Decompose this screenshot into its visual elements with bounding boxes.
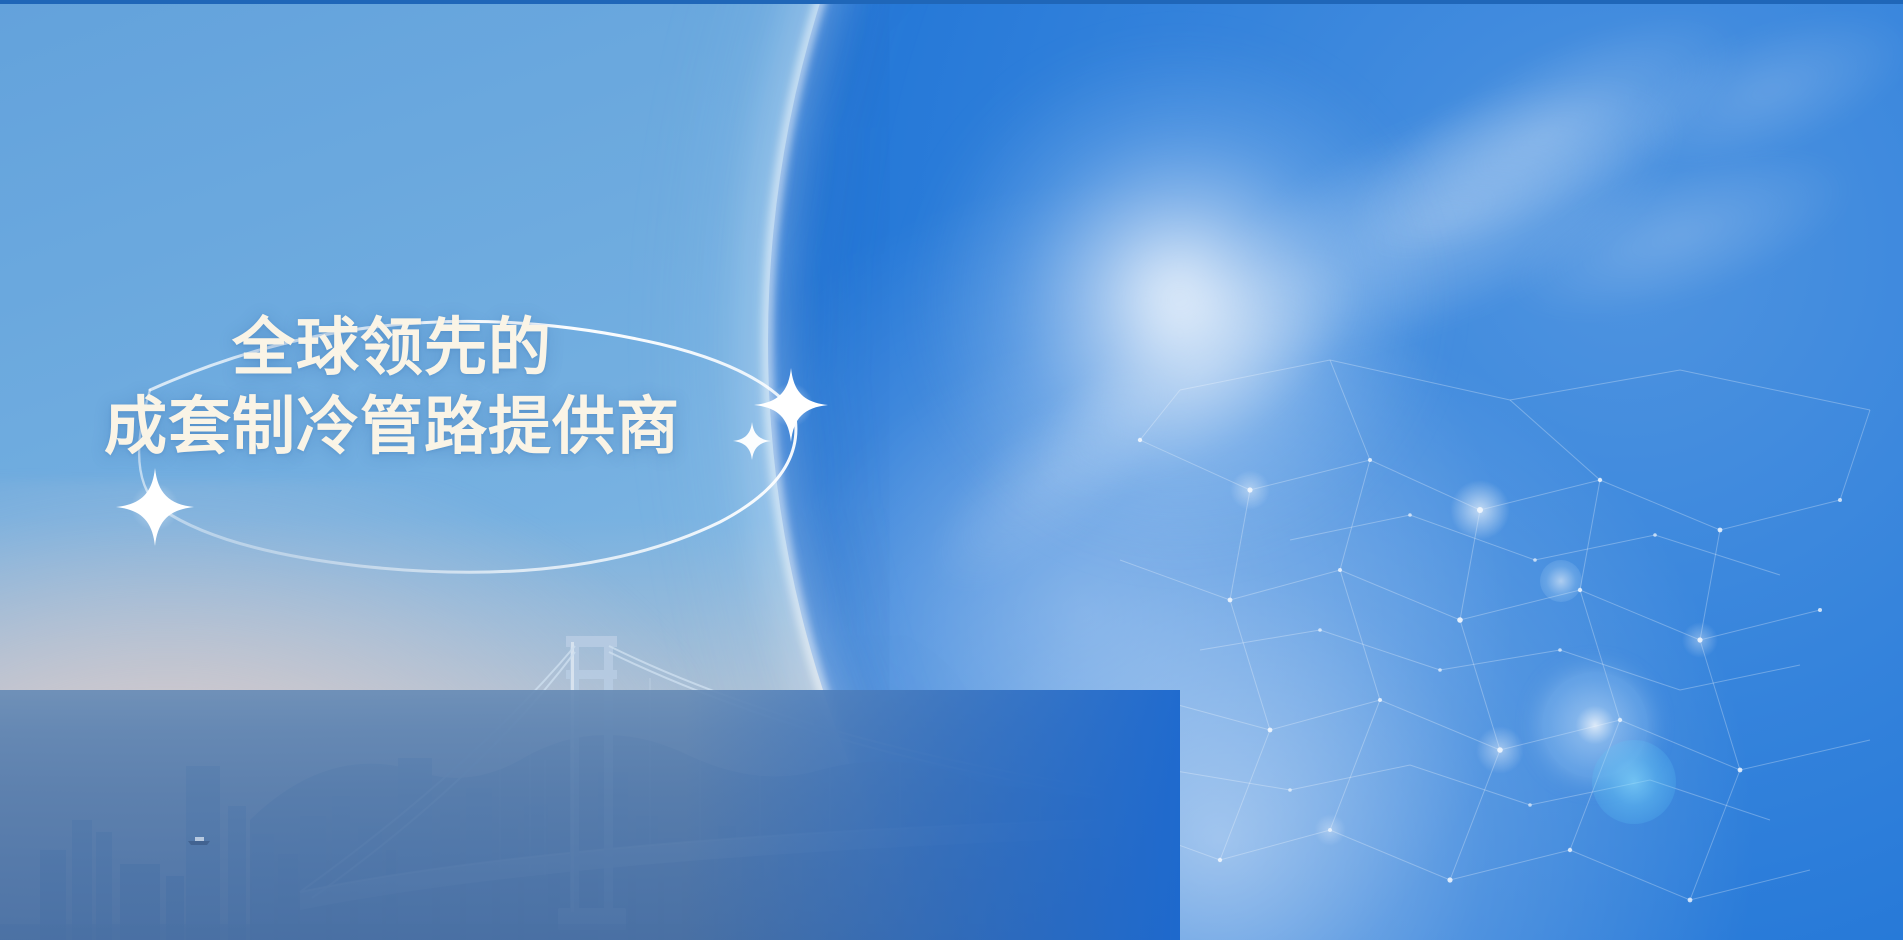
top-accent-strip xyxy=(0,0,1903,4)
sky-background xyxy=(0,0,1903,940)
hero-banner: 全球领先的 成套制冷管路提供商 xyxy=(0,0,1903,940)
